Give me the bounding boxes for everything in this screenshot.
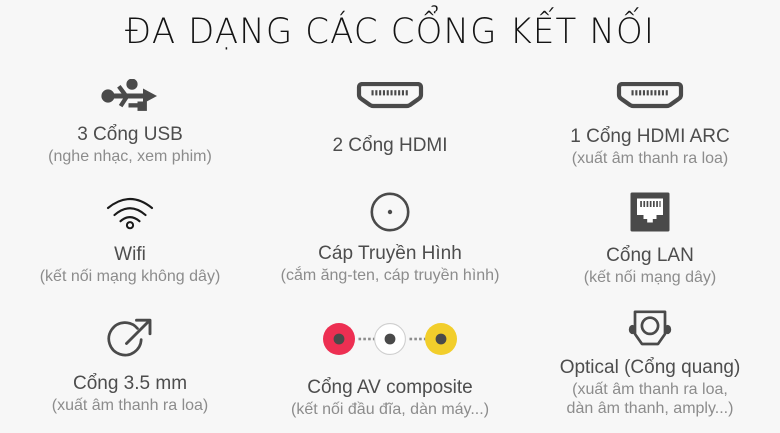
port-label: Cổng AV composite <box>260 375 520 400</box>
port-sublabel: (xuất âm thanh ra loa) <box>520 149 780 169</box>
port-sublabel: (cắm ăng-ten, cáp truyền hình) <box>260 266 520 286</box>
port-labels: Cổng 3.5 mm (xuất âm thanh ra loa) <box>0 371 260 416</box>
port-labels: Optical (Cổng quang) (xuất âm thanh ra l… <box>520 355 780 418</box>
port-label: Cổng 3.5 mm <box>0 371 260 396</box>
port-label: 1 Cổng HDMI ARC <box>520 124 780 149</box>
usb-icon <box>99 74 161 118</box>
port-label: Optical (Cổng quang) <box>520 355 780 380</box>
port-labels: Cổng LAN (kết nối mạng dây) <box>520 243 780 288</box>
port-cell-coaxial: Cáp Truyền Hình (cắm ăng-ten, cáp truyền… <box>260 187 520 307</box>
optical-toslink-icon <box>625 307 675 353</box>
port-sublabel: (kết nối mạng không dây) <box>0 267 260 287</box>
port-labels: 1 Cổng HDMI ARC (xuất âm thanh ra loa) <box>520 124 780 169</box>
port-cell-hdmi-arc: 1 Cổng HDMI ARC (xuất âm thanh ra loa) <box>520 72 780 187</box>
port-labels: Cáp Truyền Hình (cắm ăng-ten, cáp truyền… <box>260 241 520 286</box>
hdmi-arc-icon <box>614 74 686 118</box>
port-sublabel-line1: (xuất âm thanh ra loa, <box>520 380 780 399</box>
hdmi-icon <box>354 74 426 118</box>
port-cell-optical: Optical (Cổng quang) (xuất âm thanh ra l… <box>520 307 780 433</box>
port-sublabel: (nghe nhạc, xem phim) <box>0 147 260 167</box>
port-sublabel: (kết nối đầu đĩa, dàn máy...) <box>260 400 520 420</box>
port-labels: Cổng AV composite (kết nối đầu đĩa, dàn … <box>260 375 520 420</box>
audio-jack-35mm-icon <box>104 313 156 365</box>
port-label: Wifi <box>0 242 260 267</box>
port-labels: 2 Cổng HDMI <box>260 133 520 158</box>
port-label: Cổng LAN <box>520 243 780 268</box>
port-cell-av-composite: Cổng AV composite (kết nối đầu đĩa, dàn … <box>260 307 520 433</box>
port-cell-jack35: Cổng 3.5 mm (xuất âm thanh ra loa) <box>0 307 260 433</box>
wifi-icon <box>102 189 158 235</box>
lan-rj45-icon <box>630 189 670 235</box>
port-cell-lan: Cổng LAN (kết nối mạng dây) <box>520 187 780 307</box>
port-label: 2 Cổng HDMI <box>260 133 520 158</box>
port-cell-wifi: Wifi (kết nối mạng không dây) <box>0 187 260 307</box>
port-sublabel: (xuất âm thanh ra loa) <box>0 396 260 416</box>
port-labels: Wifi (kết nối mạng không dây) <box>0 242 260 287</box>
connectivity-poster: ĐA DẠNG CÁC CỔNG KẾT NỐI 3 Cổng USB (ngh… <box>0 0 780 433</box>
port-label: Cáp Truyền Hình <box>260 241 520 266</box>
ports-grid: 3 Cổng USB (nghe nhạc, xem phim) <box>0 72 780 433</box>
coaxial-antenna-icon <box>368 189 412 235</box>
av-composite-icon <box>322 313 458 365</box>
page-title: ĐA DẠNG CÁC CỔNG KẾT NỐI <box>12 8 769 56</box>
port-labels: 3 Cổng USB (nghe nhạc, xem phim) <box>0 122 260 167</box>
port-cell-usb: 3 Cổng USB (nghe nhạc, xem phim) <box>0 72 260 187</box>
port-label: 3 Cổng USB <box>0 122 260 147</box>
port-cell-hdmi: 2 Cổng HDMI <box>260 72 520 187</box>
port-sublabel: (kết nối mạng dây) <box>520 268 780 288</box>
port-sublabel-line2: dàn âm thanh, amply...) <box>520 399 780 418</box>
